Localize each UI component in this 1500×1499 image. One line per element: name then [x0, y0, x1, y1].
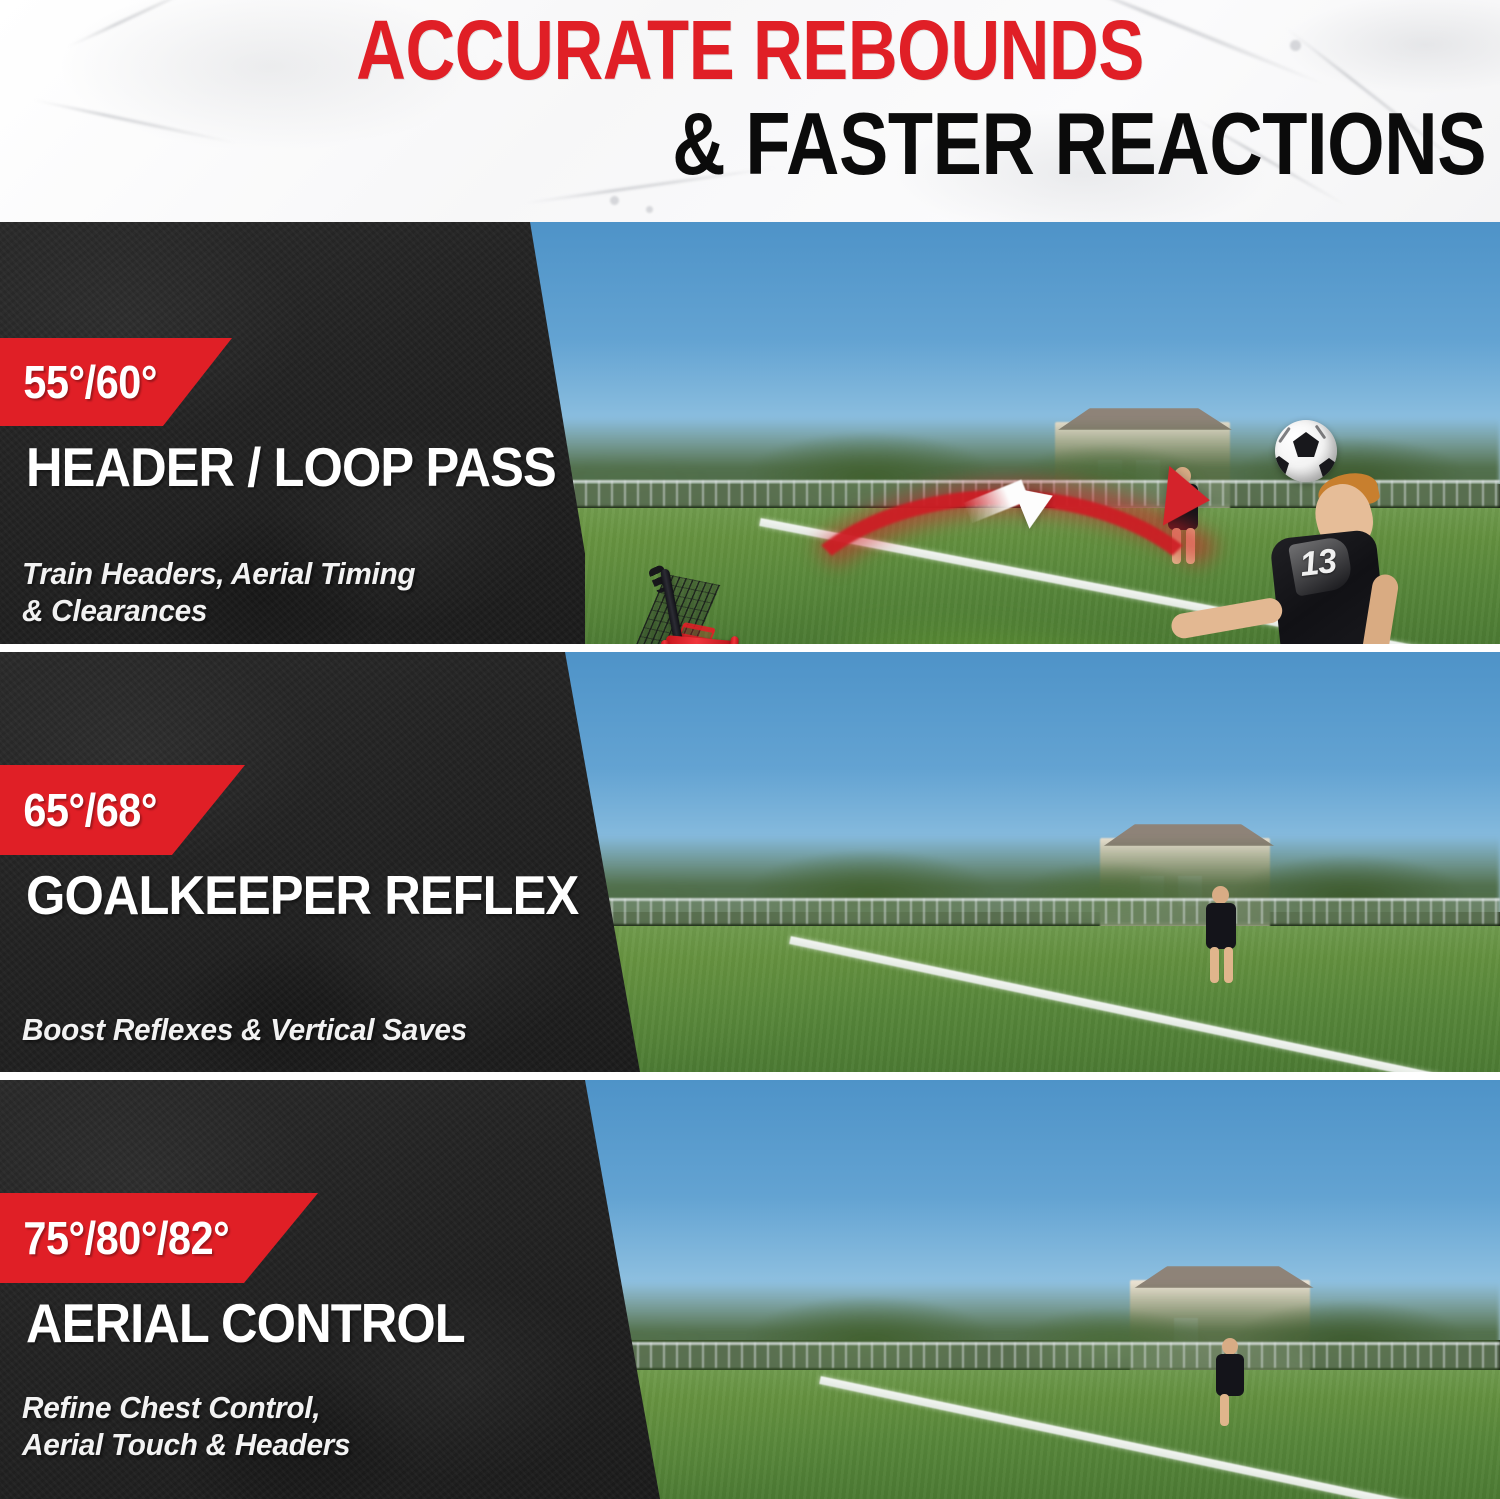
jersey-number: 13 — [1298, 542, 1338, 585]
panel-subtitle: Boost Reflexes & Vertical Saves — [22, 1012, 467, 1049]
panel-divider — [0, 1072, 1500, 1080]
headline-primary: ACCURATE REBOUNDS — [135, 8, 1365, 92]
panel-subtitle: Refine Chest Control, Aerial Touch & Hea… — [22, 1390, 350, 1463]
feature-panel-goalkeeper-reflex: 9 — [0, 652, 1500, 1072]
headline-secondary: & FASTER REACTIONS — [226, 100, 1500, 188]
trajectory-arrowhead-end — [1163, 466, 1213, 530]
panel-text-block — [0, 652, 640, 1072]
panel-subtitle: Train Headers, Aerial Timing & Clearance… — [22, 556, 415, 629]
panel-heading: HEADER / LOOP PASS — [26, 440, 556, 495]
product-feature-poster: ACCURATE REBOUNDS & FASTER REACTIONS — [0, 0, 1500, 1499]
angle-badge-label: 75°/80°/82° — [0, 1215, 229, 1261]
panel-heading: GOALKEEPER REFLEX — [26, 868, 578, 923]
marble-speck — [610, 196, 619, 205]
angle-badge-label: 65°/68° — [0, 787, 157, 833]
panel-divider — [0, 644, 1500, 652]
marble-vein — [32, 98, 238, 145]
marble-speck — [646, 206, 653, 213]
panel-heading: AERIAL CONTROL — [26, 1296, 465, 1351]
angle-badge-label: 55°/60° — [0, 359, 157, 405]
poster-header: ACCURATE REBOUNDS & FASTER REACTIONS — [0, 0, 1500, 222]
soccer-ball — [1275, 420, 1337, 482]
